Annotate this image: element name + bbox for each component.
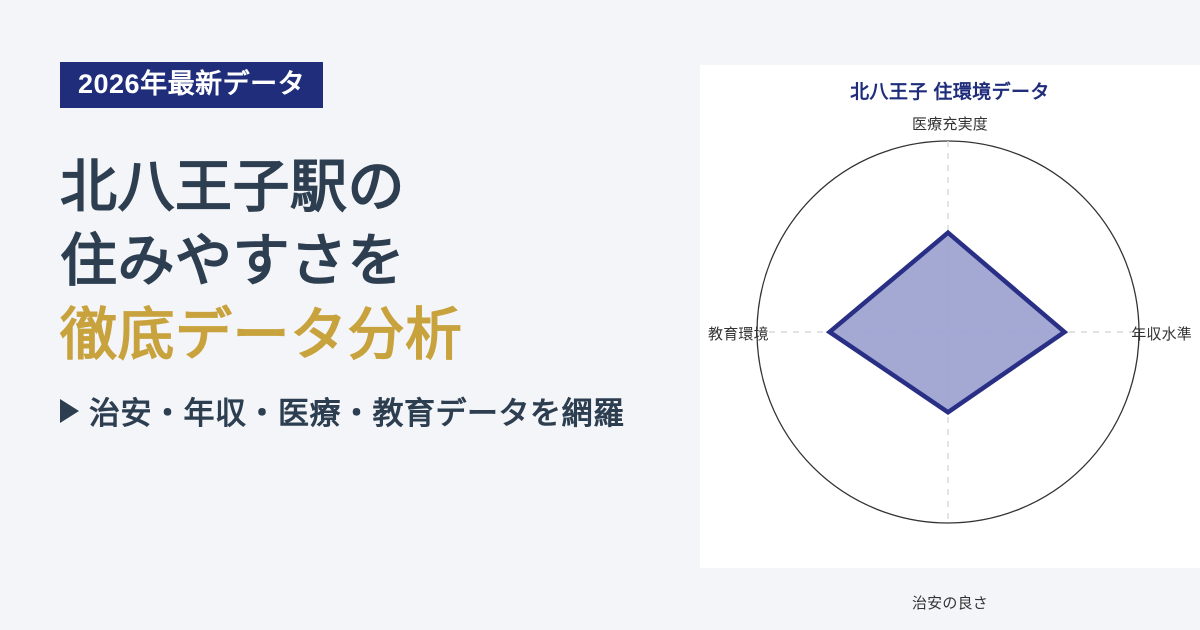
headline-line-1: 北八王子駅の: [60, 150, 680, 224]
triangle-right-icon: [60, 399, 79, 423]
radar-axis-label-bottom: 治安の良さ: [700, 592, 1200, 613]
radar-data-polygon: [830, 233, 1065, 413]
radar-axis-label-top: 医療充実度: [700, 113, 1200, 134]
headline-line-3-accent: 徹底データ分析: [60, 298, 680, 372]
subline: 治安・年収・医療・教育データを網羅: [60, 388, 680, 433]
subline-text: 治安・年収・医療・教育データを網羅: [89, 388, 625, 433]
radar-chart: 医療充実度 年収水準 治安の良さ 教育環境: [700, 65, 1200, 568]
headline: 北八王子駅の 住みやすさを 徹底データ分析: [60, 150, 680, 372]
ogp-card: 2026年最新データ 北八王子駅の 住みやすさを 徹底データ分析 治安・年収・医…: [0, 0, 1200, 630]
radar-axis-label-right: 年収水準: [1131, 323, 1192, 344]
radar-axis-label-left: 教育環境: [708, 323, 769, 344]
headline-line-2: 住みやすさを: [60, 224, 680, 298]
radar-chart-panel: 北八王子 住環境データ 医療充実度 年収水準 治安の良さ 教育環境: [700, 65, 1200, 568]
radar-svg: [700, 65, 1200, 568]
left-text-column: 2026年最新データ 北八王子駅の 住みやすさを 徹底データ分析 治安・年収・医…: [60, 62, 680, 433]
year-badge: 2026年最新データ: [60, 62, 323, 108]
